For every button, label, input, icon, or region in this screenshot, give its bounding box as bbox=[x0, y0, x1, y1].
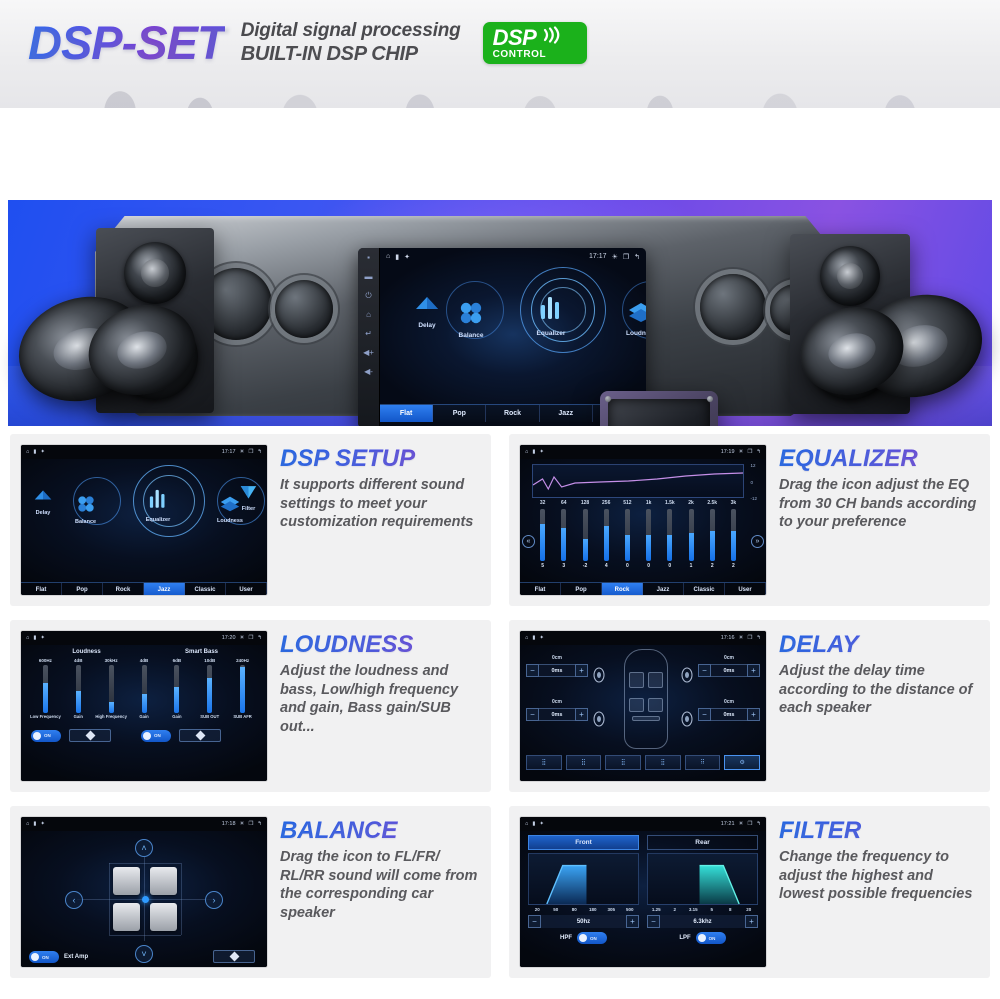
bluetooth-icon: ✦ bbox=[40, 635, 45, 641]
loudness-controls[interactable]: ON ON bbox=[21, 727, 267, 742]
speaker-icon bbox=[680, 667, 694, 683]
preset-tab-pop[interactable]: Pop bbox=[561, 583, 602, 596]
status-bar: ⌂▮✦ 17:21☀❐↰ bbox=[520, 817, 766, 831]
delay-value[interactable]: 0ms bbox=[539, 664, 575, 677]
hero-section: ▪ ▬ ⏻ ⌂ ↵ ◀+ ◀- ⌂ ▮ ✦ 17:17 ☀ ❐ ↰ bbox=[0, 108, 1000, 426]
status-time: 17:17 bbox=[589, 253, 607, 260]
eq-band-slider: 4 bbox=[596, 509, 617, 569]
slider-sub-out[interactable]: 10dB SUB OUT bbox=[193, 658, 226, 727]
eq-band-sliders[interactable]: 5 3 -2 4 0 0 0 1 2 2 bbox=[532, 507, 744, 569]
status-time: 17:18 bbox=[222, 821, 236, 827]
back-icon[interactable]: ↰ bbox=[756, 821, 761, 827]
dsp-mode-carousel[interactable]: Delay Balance Equalizer bbox=[380, 265, 646, 377]
apps-icon[interactable]: ❐ bbox=[747, 635, 752, 641]
bluetooth-icon: ✦ bbox=[404, 253, 410, 261]
eq-band-slider: 2 bbox=[723, 509, 744, 569]
status-bar: ⌂▮✦ 17:20☀❐↰ bbox=[21, 631, 267, 645]
delay-speaker-grid[interactable]: 0cm − 0ms + 0cm − 0ms + bbox=[520, 645, 766, 755]
card-title: FILTER bbox=[779, 818, 980, 843]
decrement-button[interactable]: − bbox=[647, 915, 660, 928]
card-description: Change the frequency to adjust the highe… bbox=[779, 848, 980, 904]
preset-tab-pop[interactable]: Pop bbox=[433, 405, 486, 422]
eq-frequency-labels: 3264 128256 5121k 1.5k2k 2.5k3k bbox=[532, 500, 744, 506]
bluetooth-icon: ✦ bbox=[40, 449, 45, 455]
carousel-label: Delay bbox=[414, 322, 440, 329]
apps-icon[interactable]: ❐ bbox=[623, 253, 629, 261]
card-screen-filter[interactable]: ⌂▮✦ 17:21☀❐↰ Front Rear bbox=[519, 816, 767, 968]
status-bar: ⌂▮✦ 17:18☀❐↰ bbox=[21, 817, 267, 831]
left-arrow-icon[interactable]: ‹ bbox=[65, 891, 83, 909]
volume-down-icon[interactable]: ◀- bbox=[364, 368, 373, 376]
apps-icon[interactable]: ❐ bbox=[248, 449, 253, 455]
bluetooth-icon: ✦ bbox=[539, 635, 544, 641]
header-subtitle-line2: BUILT-IN DSP CHIP bbox=[241, 43, 461, 66]
increment-button[interactable]: + bbox=[575, 708, 588, 721]
eq-band-slider: -2 bbox=[574, 509, 595, 569]
increment-button[interactable]: + bbox=[575, 664, 588, 677]
card-equalizer: ⌂▮✦ 17:19☀❐↰ 12 0 -12 bbox=[509, 434, 990, 606]
back-icon[interactable]: ↰ bbox=[257, 449, 262, 455]
loudness-group-titles: Loudness Smart Bass bbox=[21, 645, 267, 655]
volume-up-icon[interactable]: ◀+ bbox=[363, 349, 374, 357]
power-icon[interactable]: ⏻ bbox=[365, 292, 371, 300]
card-description: Drag the icon to FL/FR/ RL/RR sound will… bbox=[280, 848, 481, 922]
card-delay: ⌂▮✦ 17:16☀❐↰ 0cm − bbox=[509, 620, 990, 792]
filter-tab-bar[interactable]: Front Rear bbox=[520, 831, 766, 850]
slider-bass-gain[interactable]: 6dB Gain bbox=[160, 658, 193, 727]
delay-preset-4[interactable]: ⣿ bbox=[645, 755, 681, 770]
speaker-icon bbox=[592, 667, 606, 683]
status-time: 17:20 bbox=[222, 635, 236, 641]
home-icon[interactable]: ⌂ bbox=[525, 821, 528, 827]
brightness-icon[interactable]: ☀ bbox=[240, 821, 245, 827]
lpf-pane: 1.252 3.155 820 − 6.3khz + bbox=[647, 853, 758, 928]
decrement-button[interactable]: − bbox=[526, 664, 539, 677]
home-icon[interactable]: ⌂ bbox=[26, 635, 29, 641]
brightness-icon[interactable]: ☀ bbox=[240, 449, 245, 455]
delay-preset-1[interactable]: ⣿ bbox=[526, 755, 562, 770]
card-screen-equalizer[interactable]: ⌂▮✦ 17:19☀❐↰ 12 0 -12 bbox=[519, 444, 767, 596]
dashboard-vent bbox=[700, 274, 766, 340]
card-screen-dsp-setup[interactable]: ⌂▮✦ 17:17☀❐↰ Delay Balance bbox=[20, 444, 268, 596]
carousel-label: Balance bbox=[75, 519, 96, 525]
preset-tab-bar[interactable]: Flat Pop Rock Jazz Classic User bbox=[520, 582, 766, 596]
up-arrow-icon[interactable]: ˄ bbox=[135, 839, 153, 857]
status-time: 17:17 bbox=[222, 449, 236, 455]
dsp-badge-control-text: CONTROL bbox=[493, 50, 547, 60]
increment-button[interactable]: + bbox=[745, 915, 758, 928]
signal-icon: ▮ bbox=[395, 253, 399, 261]
carousel-item-loudness[interactable]: Loudness bbox=[626, 301, 646, 337]
carousel-item-balance[interactable]: Balance bbox=[458, 301, 484, 339]
speaker-icon bbox=[592, 711, 606, 727]
lpf-frequency-stepper[interactable]: − 6.3khz + bbox=[647, 915, 758, 928]
signal-icon: ▮ bbox=[532, 821, 535, 827]
balance-position-dot[interactable] bbox=[142, 896, 149, 903]
eq-band-slider: 1 bbox=[680, 509, 701, 569]
preset-tab-jazz[interactable]: Jazz bbox=[144, 583, 185, 596]
tab-rear[interactable]: Rear bbox=[647, 835, 758, 850]
back-icon[interactable]: ↰ bbox=[756, 449, 761, 455]
loudness-icon bbox=[628, 301, 646, 323]
down-arrow-icon[interactable]: ˅ bbox=[135, 945, 153, 963]
card-description: Adjust the loudness and bass, Low/high f… bbox=[280, 662, 481, 736]
lpf-frequency-value[interactable]: 6.3khz bbox=[660, 915, 745, 928]
signal-icon: ▮ bbox=[33, 821, 36, 827]
delay-value[interactable]: 0ms bbox=[711, 708, 747, 721]
slider-gain-2[interactable]: 4dB Gain bbox=[128, 658, 161, 727]
header-subtitle-line1: Digital signal processing bbox=[241, 20, 461, 42]
group-title-smart-bass: Smart Bass bbox=[144, 649, 259, 655]
mic-icon[interactable]: ▪ bbox=[367, 254, 370, 262]
carousel-label: Balance bbox=[458, 332, 484, 339]
group-title-loudness: Loudness bbox=[29, 649, 144, 655]
dsp-mode-carousel[interactable]: Delay Balance Equalizer Loudness bbox=[21, 459, 267, 567]
lpf-scale-labels: 1.252 3.155 820 bbox=[647, 907, 758, 912]
loudness-icon bbox=[220, 495, 240, 512]
ext-amp-toggle[interactable]: ON bbox=[29, 951, 59, 963]
balance-reset-button[interactable] bbox=[213, 950, 255, 963]
card-title: BALANCE bbox=[280, 818, 481, 843]
carousel-item-delay[interactable]: Delay bbox=[33, 489, 53, 516]
loudness-sliders[interactable]: 600Hz Low Frequency 4dB Gain 30kHz High … bbox=[21, 655, 267, 727]
status-bar: ⌂▮✦ 17:19☀❐↰ bbox=[520, 445, 766, 459]
slider-high-frequency[interactable]: 30kHz High Frequency bbox=[95, 658, 128, 727]
apps-icon[interactable]: ❐ bbox=[747, 821, 752, 827]
bluetooth-icon: ✦ bbox=[539, 449, 544, 455]
lpf-label: LPF bbox=[679, 935, 690, 941]
card-balance: ⌂▮✦ 17:18☀❐↰ ˄ ˅ ‹ › bbox=[10, 806, 491, 978]
preset-tab-flat[interactable]: Flat bbox=[520, 583, 561, 596]
card-screen-balance[interactable]: ⌂▮✦ 17:18☀❐↰ ˄ ˅ ‹ › bbox=[20, 816, 268, 968]
hpf-frequency-stepper[interactable]: − 50hz + bbox=[528, 915, 639, 928]
feature-card-grid: ⌂▮✦ 17:17☀❐↰ Delay Balance bbox=[0, 434, 1000, 978]
card-description: It supports different sound settings to … bbox=[280, 476, 481, 532]
slider-sub-afr[interactable]: 240Hz SUB AFR bbox=[226, 658, 259, 727]
delay-preset-5[interactable]: ⠿ bbox=[685, 755, 721, 770]
signal-icon: ▮ bbox=[33, 449, 36, 455]
preset-tab-flat[interactable]: Flat bbox=[21, 583, 62, 596]
slider-low-frequency[interactable]: 600Hz Low Frequency bbox=[29, 658, 62, 727]
decrement-button[interactable]: − bbox=[698, 664, 711, 677]
delay-value[interactable]: 0ms bbox=[711, 664, 747, 677]
signal-icon: ▮ bbox=[532, 449, 535, 455]
carousel-label: Filter bbox=[239, 506, 258, 512]
carousel-label: Equalizer bbox=[145, 517, 171, 523]
delay-front-right[interactable]: 0cm − 0ms + bbox=[698, 655, 760, 677]
card-title: LOUDNESS bbox=[280, 632, 481, 657]
lpf-toggle[interactable]: ON bbox=[696, 932, 726, 944]
preset-tab-rock[interactable]: Rock bbox=[103, 583, 144, 596]
card-title: DSP SETUP bbox=[280, 446, 481, 471]
back-icon[interactable]: ↰ bbox=[257, 821, 262, 827]
home-icon[interactable]: ⌂ bbox=[525, 449, 528, 455]
chip-dsp-text: DSP bbox=[630, 424, 688, 426]
hpf-response-graph bbox=[528, 853, 639, 905]
preset-tab-jazz[interactable]: Jazz bbox=[643, 583, 684, 596]
eq-band-slider: 2 bbox=[702, 509, 723, 569]
delay-value[interactable]: 0ms bbox=[539, 708, 575, 721]
card-description: Drag the icon adjust the EQ from 30 CH b… bbox=[779, 476, 980, 532]
car-outline bbox=[624, 649, 668, 749]
hpf-toggle[interactable]: ON bbox=[577, 932, 607, 944]
back-icon[interactable]: ↰ bbox=[257, 635, 262, 641]
hpf-scale-labels: 2050 80180 305500 bbox=[528, 907, 639, 912]
brand-logo: DSP-SET bbox=[28, 19, 225, 66]
gear-icon[interactable]: ⚙ bbox=[724, 755, 760, 770]
preset-tab-user[interactable]: User bbox=[725, 583, 766, 596]
carousel-label: Delay bbox=[33, 510, 53, 516]
equalizer-icon bbox=[535, 291, 567, 323]
balance-icon bbox=[458, 301, 484, 325]
card-dsp-setup: ⌂▮✦ 17:17☀❐↰ Delay Balance bbox=[10, 434, 491, 606]
dsp-chip-badge: DSP CHIP bbox=[600, 391, 718, 426]
dashboard-vent bbox=[275, 280, 333, 338]
status-time: 17:16 bbox=[721, 635, 735, 641]
equalizer-icon bbox=[145, 485, 171, 511]
eq-band-slider: 0 bbox=[659, 509, 680, 569]
apps-icon[interactable]: ❐ bbox=[747, 449, 752, 455]
eq-band-slider: 5 bbox=[532, 509, 553, 569]
carousel-label: Equalizer bbox=[535, 330, 567, 337]
slider-gain-1[interactable]: 4dB Gain bbox=[62, 658, 95, 727]
brightness-icon[interactable]: ☀ bbox=[739, 635, 744, 641]
home-icon[interactable]: ⌂ bbox=[525, 635, 528, 641]
tab-front[interactable]: Front bbox=[528, 835, 639, 850]
right-arrow-icon[interactable]: › bbox=[205, 891, 223, 909]
delay-rear-right[interactable]: 0cm − 0ms + bbox=[698, 699, 760, 721]
increment-button[interactable]: + bbox=[626, 915, 639, 928]
status-time: 17:21 bbox=[721, 821, 735, 827]
filter-icon bbox=[239, 483, 258, 500]
signal-icon: ▮ bbox=[33, 635, 36, 641]
loudness-toggle[interactable]: ON bbox=[31, 730, 61, 742]
back-icon[interactable]: ↵ bbox=[365, 330, 372, 338]
preset-tab-flat[interactable]: Flat bbox=[380, 405, 433, 422]
hpf-pane: 2050 80180 305500 − 50hz + bbox=[528, 853, 639, 928]
card-screen-loudness[interactable]: ⌂▮✦ 17:20☀❐↰ Loudness Smart Bass 600Hz L… bbox=[20, 630, 268, 782]
filter-toggles[interactable]: HPF ON LPF ON bbox=[520, 928, 766, 944]
back-icon[interactable]: ↰ bbox=[756, 635, 761, 641]
bluetooth-icon: ✦ bbox=[40, 821, 45, 827]
page-header: DSP-SET Digital signal processing BUILT-… bbox=[0, 0, 1000, 108]
balance-icon bbox=[76, 495, 96, 513]
card-filter: ⌂▮✦ 17:21☀❐↰ Front Rear bbox=[509, 806, 990, 978]
lpf-response-graph bbox=[647, 853, 758, 905]
carousel-label: Loudness bbox=[626, 330, 646, 337]
brightness-icon[interactable]: ☀ bbox=[739, 821, 744, 827]
card-loudness: ⌂▮✦ 17:20☀❐↰ Loudness Smart Bass 600Hz L… bbox=[10, 620, 491, 792]
loudness-reset-button[interactable] bbox=[69, 729, 111, 742]
diamond-icon bbox=[85, 731, 95, 741]
carousel-item-equalizer[interactable]: Equalizer bbox=[535, 291, 567, 337]
delay-front-left[interactable]: 0cm − 0ms + bbox=[526, 655, 588, 677]
carousel-label: Loudness bbox=[217, 518, 243, 524]
brightness-icon[interactable]: ☀ bbox=[739, 449, 744, 455]
balance-pad[interactable]: ˄ ˅ ‹ › bbox=[21, 831, 267, 968]
carousel-item-delay[interactable]: Delay bbox=[414, 295, 440, 329]
preset-tab-rock[interactable]: Rock bbox=[602, 583, 643, 596]
preset-tab-classic[interactable]: Classic bbox=[684, 583, 725, 596]
hpf-frequency-value[interactable]: 50hz bbox=[541, 915, 626, 928]
delay-preset-2[interactable]: ⣿ bbox=[566, 755, 602, 770]
mute-icon[interactable]: ▬ bbox=[365, 273, 373, 281]
eq-response-curve: 12 0 -12 bbox=[532, 464, 744, 498]
carousel-item-filter[interactable]: Filter bbox=[239, 483, 258, 512]
preset-tab-jazz[interactable]: Jazz bbox=[540, 405, 593, 422]
carousel-item-equalizer[interactable]: Equalizer bbox=[145, 485, 171, 523]
speaker-icon bbox=[680, 711, 694, 727]
delay-rear-left[interactable]: 0cm − 0ms + bbox=[526, 699, 588, 721]
bluetooth-icon: ✦ bbox=[539, 821, 544, 827]
card-title: DELAY bbox=[779, 632, 980, 657]
equalizer-panel[interactable]: 12 0 -12 3264 128256 5121k 1.5k2k 2.5k3k… bbox=[520, 459, 766, 596]
delay-icon bbox=[414, 295, 440, 315]
home-icon[interactable]: ⌂ bbox=[26, 821, 29, 827]
carousel-item-balance[interactable]: Balance bbox=[75, 495, 96, 525]
signal-waves-icon bbox=[540, 26, 560, 49]
smart-bass-toggle[interactable]: ON bbox=[141, 730, 171, 742]
ext-amp-label: Ext Amp bbox=[64, 954, 88, 960]
eq-band-slider: 3 bbox=[553, 509, 574, 569]
chevron-double-left-icon[interactable]: « bbox=[522, 535, 535, 548]
delay-preset-3[interactable]: ⣿ bbox=[605, 755, 641, 770]
eq-axis-labels: 12 0 -12 bbox=[750, 463, 757, 501]
delay-preset-bar[interactable]: ⣿ ⣿ ⣿ ⣿ ⠿ ⚙ bbox=[520, 755, 766, 770]
card-title: EQUALIZER bbox=[779, 446, 980, 471]
preset-tab-bar[interactable]: Flat Pop Rock Jazz Classic User bbox=[21, 582, 267, 596]
preset-tab-classic[interactable]: Classic bbox=[185, 583, 226, 596]
diamond-icon bbox=[229, 952, 239, 962]
decrement-button[interactable]: − bbox=[526, 708, 539, 721]
card-screen-delay[interactable]: ⌂▮✦ 17:16☀❐↰ 0cm − bbox=[519, 630, 767, 782]
increment-button[interactable]: + bbox=[747, 708, 760, 721]
brightness-icon[interactable]: ☀ bbox=[240, 635, 245, 641]
signal-icon: ▮ bbox=[532, 635, 535, 641]
preset-tab-rock[interactable]: Rock bbox=[486, 405, 539, 422]
dsp-control-badge: DSP CONTROL bbox=[483, 22, 587, 64]
preset-tab-user[interactable]: User bbox=[226, 583, 267, 596]
status-bar: ⌂ ▮ ✦ 17:17 ☀ ❐ ↰ bbox=[380, 248, 646, 265]
dsp-badge-text: DSP bbox=[493, 27, 537, 49]
chevron-double-right-icon[interactable]: » bbox=[751, 535, 764, 548]
status-bar: ⌂▮✦ 17:16☀❐↰ bbox=[520, 631, 766, 645]
card-description: Adjust the delay time according to the d… bbox=[779, 662, 980, 718]
decrement-button[interactable]: − bbox=[528, 915, 541, 928]
status-time: 17:19 bbox=[721, 449, 735, 455]
head-unit-side-buttons[interactable]: ▪ ▬ ⏻ ⌂ ↵ ◀+ ◀- bbox=[358, 248, 380, 426]
eq-band-slider: 0 bbox=[617, 509, 638, 569]
status-bar: ⌂▮✦ 17:17☀❐↰ bbox=[21, 445, 267, 459]
increment-button[interactable]: + bbox=[747, 664, 760, 677]
apps-icon[interactable]: ❐ bbox=[248, 635, 253, 641]
diamond-icon bbox=[195, 731, 205, 741]
eq-band-slider: 0 bbox=[638, 509, 659, 569]
decrement-button[interactable]: − bbox=[698, 708, 711, 721]
home-icon[interactable]: ⌂ bbox=[386, 253, 390, 260]
back-icon[interactable]: ↰ bbox=[634, 253, 640, 261]
brightness-icon[interactable]: ☀ bbox=[612, 253, 618, 261]
home-icon[interactable]: ⌂ bbox=[26, 449, 29, 455]
apps-icon[interactable]: ❐ bbox=[248, 821, 253, 827]
preset-tab-pop[interactable]: Pop bbox=[62, 583, 103, 596]
smart-bass-reset-button[interactable] bbox=[179, 729, 221, 742]
car-seats-diagram bbox=[113, 867, 177, 931]
home-icon[interactable]: ⌂ bbox=[366, 311, 371, 319]
hpf-label: HPF bbox=[560, 935, 572, 941]
delay-icon bbox=[33, 489, 53, 504]
